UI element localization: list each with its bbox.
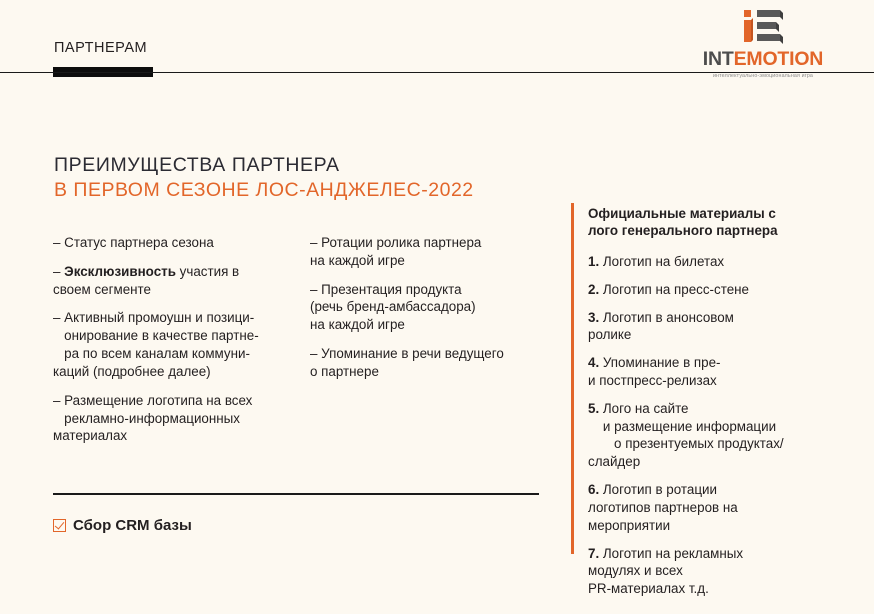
list-item-text: Лого на сайте bbox=[599, 401, 688, 416]
benefits-column-left: – Статус партнера сезона – Эксклюзивност… bbox=[53, 234, 298, 456]
list-item-line: и постпресс-релизах bbox=[588, 372, 820, 390]
list-item-line: логотипов партнеров на bbox=[588, 499, 820, 517]
list-item-number: 2. bbox=[588, 282, 599, 297]
list-item-line: – Упоминание в речи ведущего bbox=[310, 345, 545, 363]
logo-tagline: интеллектуально-эмоциональная игра bbox=[698, 73, 828, 79]
list-item-line: о презентуемых продуктах/ bbox=[588, 435, 820, 453]
list-item-line: слайдер bbox=[588, 453, 820, 471]
list-item-number: 5. bbox=[588, 401, 599, 416]
list-item-line: онирование в качестве партне- bbox=[53, 327, 298, 345]
list-item-line: 7. Логотип на рекламных bbox=[588, 545, 820, 563]
header-eyebrow: ПАРТНЕРАМ bbox=[54, 40, 147, 56]
dash: – bbox=[53, 264, 64, 279]
emphasis: Эксклюзивность bbox=[64, 264, 176, 279]
list-item-line: – Активный промоушн и позици- bbox=[53, 309, 298, 327]
heading-line: Официальные материалы с bbox=[588, 205, 820, 222]
list-item-tail: участия в bbox=[176, 264, 239, 279]
slide-root: ПАРТНЕРАМ INTEMOTION интеллектуально-эмо… bbox=[0, 0, 874, 614]
logo-wordmark-int: INT bbox=[703, 48, 734, 70]
list-item-line: материалах bbox=[53, 427, 298, 445]
list-item-line: ра по всем каналам коммуни- bbox=[53, 345, 298, 363]
list-item: – Статус партнера сезона bbox=[53, 234, 298, 252]
footer-divider-line bbox=[53, 493, 539, 495]
benefits-column-middle: – Ротации ролика партнера на каждой игре… bbox=[310, 234, 545, 392]
logo-wordmark: INTEMOTION bbox=[698, 50, 828, 70]
list-item: 7. Логотип на рекламных модулях и всех P… bbox=[588, 545, 820, 598]
list-item: 1. Логотип на билетах bbox=[588, 253, 820, 271]
list-item-line: рекламно-информационных bbox=[53, 410, 298, 428]
list-item: – Ротации ролика партнера на каждой игре bbox=[310, 234, 545, 270]
list-item-number: 7. bbox=[588, 546, 599, 561]
crm-label: Сбор CRM базы bbox=[73, 517, 192, 534]
page-subtitle: В ПЕРВОМ СЕЗОНЕ ЛОС-АНДЖЕЛЕС-2022 bbox=[54, 179, 474, 202]
official-materials-heading: Официальные материалы с лого генеральног… bbox=[588, 205, 820, 240]
list-item: – Активный промоушн и позици- онирование… bbox=[53, 309, 298, 380]
list-item: 6. Логотип в ротации логотипов партнеров… bbox=[588, 481, 820, 534]
list-item-line: – Статус партнера сезона bbox=[53, 234, 298, 252]
list-item-line: о партнере bbox=[310, 363, 545, 381]
intemotion-monogram-icon bbox=[698, 8, 828, 48]
list-item-line: 3. Логотип в анонсовом bbox=[588, 309, 820, 327]
list-item-number: 6. bbox=[588, 482, 599, 497]
list-item-line: мероприятии bbox=[588, 517, 820, 535]
list-item: 2. Логотип на пресс-стене bbox=[588, 281, 820, 299]
list-item: 5. Лого на сайте и размещение информации… bbox=[588, 400, 820, 471]
list-item-line: – Ротации ролика партнера bbox=[310, 234, 545, 252]
list-item-line: своем сегменте bbox=[53, 281, 298, 299]
list-item-line: – Эксклюзивность участия в bbox=[53, 263, 298, 281]
list-item-line: модулях и всех bbox=[588, 562, 820, 580]
list-item-line: на каждой игре bbox=[310, 252, 545, 270]
list-item-text: Упоминание в пре- bbox=[599, 355, 720, 370]
list-item-line: на каждой игре bbox=[310, 316, 545, 334]
column-divider bbox=[571, 203, 574, 554]
list-item-line: 6. Логотип в ротации bbox=[588, 481, 820, 499]
list-item-line: (речь бренд-амбассадора) bbox=[310, 298, 545, 316]
list-item-line: 4. Упоминание в пре- bbox=[588, 354, 820, 372]
logo-wordmark-emotion: EMOTION bbox=[734, 48, 824, 70]
list-item-line: 1. Логотип на билетах bbox=[588, 253, 820, 271]
list-item-text: Логотип на пресс-стене bbox=[599, 282, 749, 297]
list-item: – Упоминание в речи ведущего о партнере bbox=[310, 345, 545, 381]
list-item-line: – Размещение логотипа на всех bbox=[53, 392, 298, 410]
list-item-text: Логотип в ротации bbox=[599, 482, 717, 497]
list-item: 3. Логотип в анонсовом ролике bbox=[588, 309, 820, 345]
list-item: – Эксклюзивность участия в своем сегмент… bbox=[53, 263, 298, 299]
list-item-line: 5. Лого на сайте bbox=[588, 400, 820, 418]
brand-logo: INTEMOTION интеллектуально-эмоциональная… bbox=[698, 8, 828, 79]
list-item-line: ролике bbox=[588, 326, 820, 344]
list-item-text: Логотип на билетах bbox=[599, 254, 724, 269]
list-item-line: 2. Логотип на пресс-стене bbox=[588, 281, 820, 299]
page-title: ПРЕИМУЩЕСТВА ПАРТНЕРА bbox=[54, 154, 340, 177]
list-item-line: – Презентация продукта bbox=[310, 281, 545, 299]
list-item-line: PR-материалах т.д. bbox=[588, 580, 820, 598]
list-item: – Презентация продукта (речь бренд-амбас… bbox=[310, 281, 545, 334]
list-item-text: Логотип на рекламных bbox=[599, 546, 743, 561]
list-item-number: 1. bbox=[588, 254, 599, 269]
checkbox-checked-icon bbox=[53, 519, 66, 532]
official-materials-column: Официальные материалы с лого генеральног… bbox=[588, 205, 820, 608]
list-item: 4. Упоминание в пре- и постпресс-релизах bbox=[588, 354, 820, 390]
list-item: – Размещение логотипа на всех рекламно-и… bbox=[53, 392, 298, 445]
heading-line: лого генерального партнера bbox=[588, 222, 820, 239]
list-item-text: Логотип в анонсовом bbox=[599, 310, 734, 325]
list-item-line: и размещение информации bbox=[588, 418, 820, 436]
list-item-line: каций (подробнее далее) bbox=[53, 363, 298, 381]
list-item-number: 3. bbox=[588, 310, 599, 325]
crm-row: Сбор CRM базы bbox=[53, 517, 192, 534]
list-item-number: 4. bbox=[588, 355, 599, 370]
